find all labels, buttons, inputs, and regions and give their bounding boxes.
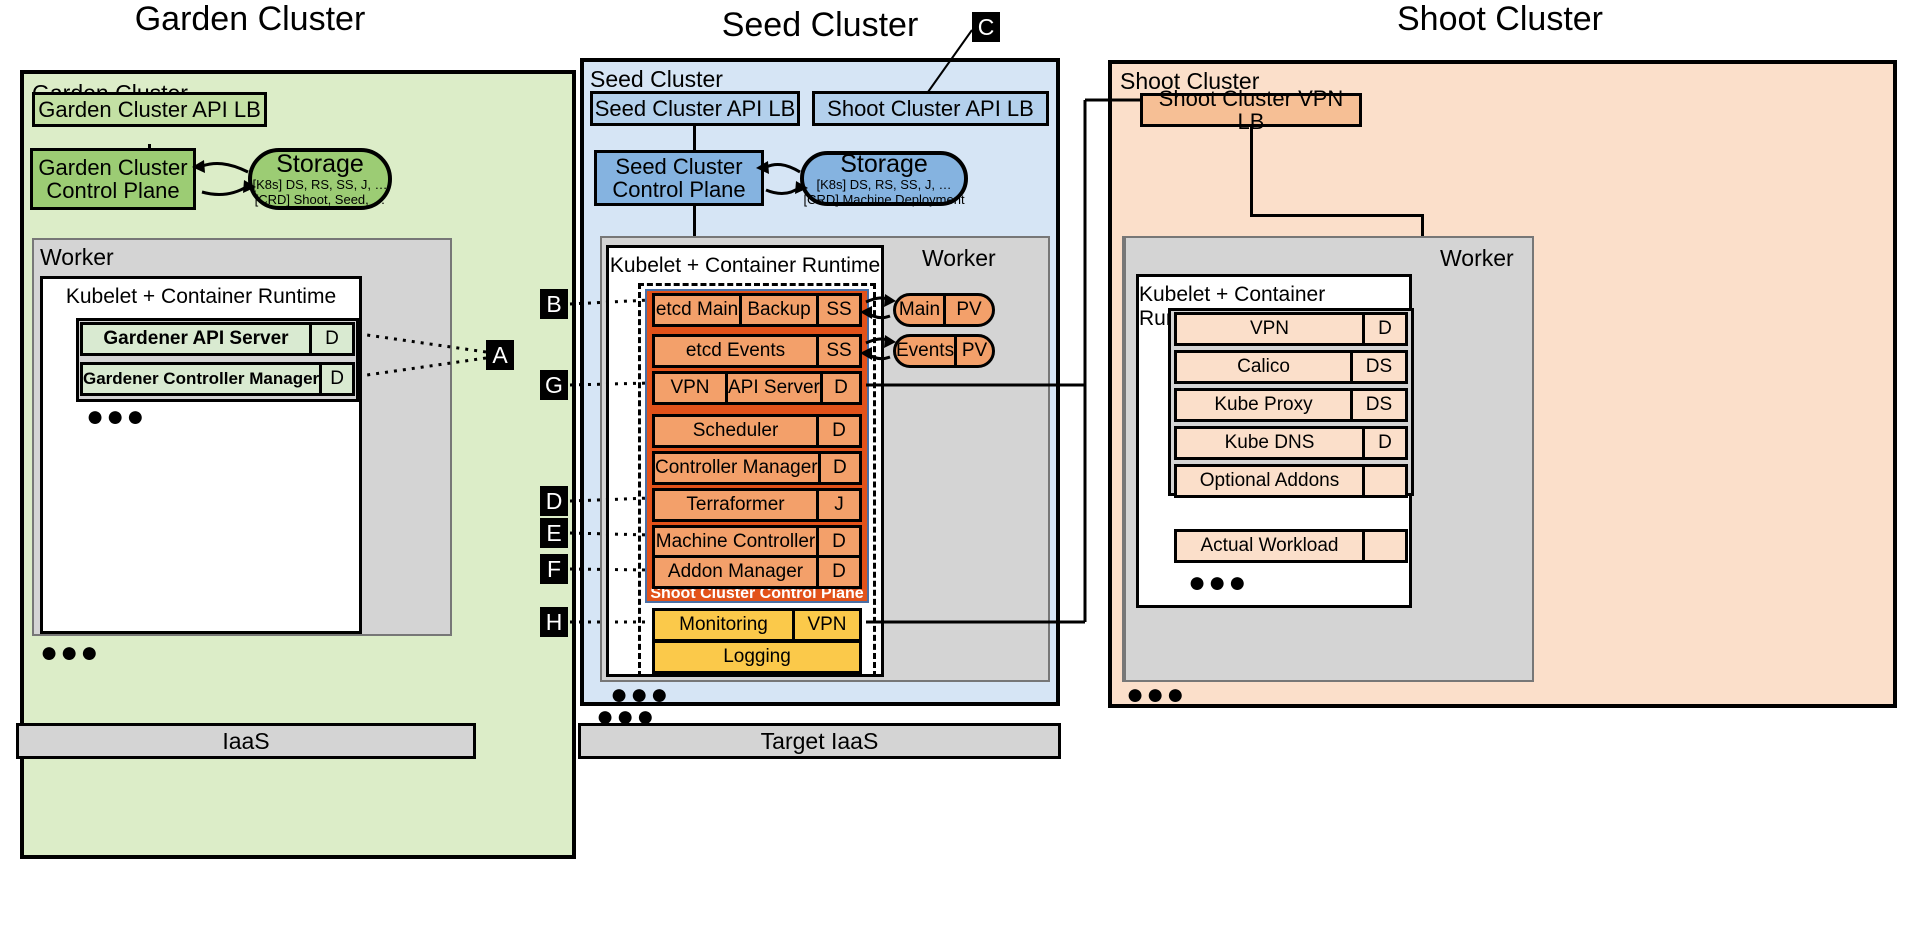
seed-pod-terraformer[interactable]: Terraformer J <box>652 488 862 522</box>
seed-worker-ellipsis: ●●● <box>610 690 670 700</box>
shoot-vpnlb-run <box>1250 214 1424 217</box>
seed-pod-machine-controller-label: Machine Controller <box>655 528 816 556</box>
seed-iaas-bar: Target IaaS <box>578 723 1061 759</box>
shoot-pod-calico[interactable]: Calico DS <box>1174 350 1408 384</box>
seed-pod-monitoring-label: Monitoring <box>655 611 792 639</box>
shoot-pod-calico-kind: DS <box>1350 353 1405 381</box>
garden-control-plane-label-2: Control Plane <box>46 179 179 202</box>
seed-pod-api-server-vpn: VPN <box>655 374 728 402</box>
seed-storage[interactable]: Storage [K8s] DS, RS, SS, J, … [CRD] Mac… <box>800 151 968 206</box>
garden-iaas-label: IaaS <box>222 728 269 755</box>
shoot-worker-label: Worker <box>1440 245 1514 272</box>
seed-pod-scheduler[interactable]: Scheduler D <box>652 414 862 448</box>
garden-api-lb[interactable]: Garden Cluster API LB <box>32 92 267 127</box>
seed-pod-etcd-events-kind: SS <box>816 337 859 365</box>
seed-volume-events-label: Events <box>896 337 954 365</box>
garden-pod-gardener-api-server-kind: D <box>309 325 352 353</box>
seed-control-plane-label-1: Seed Cluster <box>615 155 742 178</box>
seed-pod-api-server-kind: D <box>820 374 859 402</box>
garden-storage[interactable]: Storage [K8s] DS, RS, SS, J, … [CRD] Sho… <box>248 148 392 210</box>
shoot-pod-actual-workload-label: Actual Workload <box>1177 532 1362 560</box>
garden-pod-gardener-api-server-label: Gardener API Server <box>83 325 309 353</box>
seed-pod-api-server-label: API Server <box>728 374 820 402</box>
shoot-api-lb-label: Shoot Cluster API LB <box>827 97 1034 120</box>
seed-kubelet-label: Kubelet + Container Runtime <box>610 254 880 278</box>
garden-cluster-title: Garden Cluster <box>60 0 440 39</box>
garden-iaas-bar: IaaS <box>16 723 476 759</box>
shoot-pod-kube-dns-label: Kube DNS <box>1177 429 1362 457</box>
shoot-workload-ellipsis: ●●● <box>1188 578 1248 588</box>
seed-cluster-title: Seed Cluster <box>630 6 1010 45</box>
seed-cluster-ellipsis: ●●● <box>596 712 656 722</box>
shoot-pod-kube-dns-kind: D <box>1362 429 1405 457</box>
garden-pod-gardener-controller-manager-kind: D <box>319 365 352 393</box>
seed-pod-scheduler-kind: D <box>816 417 859 445</box>
seed-lb-to-cp-line <box>693 126 696 153</box>
garden-worker-label: Worker <box>40 244 114 271</box>
garden-api-lb-label: Garden Cluster API LB <box>38 98 261 121</box>
shoot-api-lb[interactable]: Shoot Cluster API LB <box>812 91 1049 126</box>
shoot-pod-kube-proxy-label: Kube Proxy <box>1177 391 1350 419</box>
shoot-pod-kube-dns[interactable]: Kube DNS D <box>1174 426 1408 460</box>
shoot-pod-vpn-kind: D <box>1362 315 1405 343</box>
seed-storage-line-1: [K8s] DS, RS, SS, J, … <box>816 177 951 192</box>
shoot-pod-actual-workload[interactable]: Actual Workload <box>1174 529 1408 563</box>
garden-worker-ellipsis: ●●● <box>40 648 100 658</box>
seed-pod-etcd-main[interactable]: etcd Main Backup SS <box>652 293 862 327</box>
shoot-pod-kube-proxy-kind: DS <box>1350 391 1405 419</box>
seed-pod-etcd-events-label: etcd Events <box>655 337 816 365</box>
seed-control-plane-label-2: Control Plane <box>612 178 745 201</box>
seed-pod-terraformer-kind: J <box>816 491 859 519</box>
seed-cluster-panel-label: Seed Cluster <box>590 68 723 91</box>
shoot-pod-actual-workload-kind <box>1362 532 1405 560</box>
seed-pod-controller-manager-label: Controller Manager <box>655 454 818 482</box>
shoot-pod-vpn-label: VPN <box>1177 315 1362 343</box>
seed-api-lb[interactable]: Seed Cluster API LB <box>590 91 800 126</box>
garden-kubelet-label: Kubelet + Container Runtime <box>66 285 336 309</box>
marker-f: F <box>540 554 568 584</box>
seed-pod-machine-controller[interactable]: Machine Controller D <box>652 525 862 559</box>
shoot-vpnlb-drop <box>1250 127 1253 217</box>
seed-api-lb-label: Seed Cluster API LB <box>595 97 796 120</box>
seed-pod-addon-manager[interactable]: Addon Manager D <box>652 555 862 589</box>
seed-storage-title: Storage <box>840 151 928 177</box>
seed-pod-logging[interactable]: Logging <box>652 640 862 674</box>
shoot-pod-kube-proxy[interactable]: Kube Proxy DS <box>1174 388 1408 422</box>
garden-control-plane[interactable]: Garden Cluster Control Plane <box>30 148 196 210</box>
seed-volume-events[interactable]: Events PV <box>893 334 995 368</box>
marker-g: G <box>540 370 568 400</box>
shoot-cluster-title: Shoot Cluster <box>1310 0 1690 39</box>
marker-e: E <box>540 518 568 548</box>
shoot-pod-calico-label: Calico <box>1177 353 1350 381</box>
seed-pod-etcd-main-kind: SS <box>816 296 859 324</box>
seed-pod-scheduler-label: Scheduler <box>655 417 816 445</box>
garden-pod-ellipsis: ●●● <box>86 412 146 422</box>
seed-pod-etcd-main-backup: Backup <box>739 296 816 324</box>
marker-b: B <box>540 289 568 319</box>
shoot-cluster-ellipsis: ●●● <box>1126 690 1186 700</box>
seed-pod-etcd-main-label: etcd Main <box>655 296 739 324</box>
seed-pod-etcd-events[interactable]: etcd Events SS <box>652 334 862 368</box>
marker-h: H <box>540 607 568 637</box>
seed-pod-addon-manager-label: Addon Manager <box>655 558 816 586</box>
marker-d: D <box>540 486 568 516</box>
garden-control-plane-label-1: Garden Cluster <box>38 156 187 179</box>
garden-pod-gardener-api-server[interactable]: Gardener API Server D <box>80 322 355 356</box>
seed-storage-line-2: [CRD] Machine Deployment <box>803 192 964 207</box>
seed-pod-controller-manager-kind: D <box>818 454 859 482</box>
shoot-vpn-lb[interactable]: Shoot Cluster VPN LB <box>1140 93 1362 127</box>
seed-volume-main[interactable]: Main PV <box>893 293 995 327</box>
seed-pod-monitoring[interactable]: Monitoring VPN <box>652 608 862 642</box>
shoot-pod-optional-addons-kind <box>1362 467 1405 495</box>
marker-c: C <box>972 12 1000 42</box>
marker-a: A <box>486 340 514 370</box>
garden-storage-line-2: [CRD] Shoot, Seed, … <box>255 192 386 207</box>
seed-volume-main-kind: PV <box>943 296 992 324</box>
seed-pod-api-server[interactable]: VPN API Server D <box>652 371 862 405</box>
seed-iaas-label: Target IaaS <box>761 728 879 755</box>
seed-pod-controller-manager[interactable]: Controller Manager D <box>652 451 862 485</box>
seed-volume-main-label: Main <box>896 296 943 324</box>
seed-control-plane[interactable]: Seed Cluster Control Plane <box>594 150 764 206</box>
shoot-pod-optional-addons[interactable]: Optional Addons <box>1174 464 1408 498</box>
garden-storage-title: Storage <box>276 151 364 177</box>
garden-storage-line-1: [K8s] DS, RS, SS, J, … <box>252 177 387 192</box>
seed-pod-machine-controller-kind: D <box>816 528 859 556</box>
shoot-pod-optional-addons-label: Optional Addons <box>1177 467 1362 495</box>
seed-pod-addon-manager-kind: D <box>816 558 859 586</box>
seed-pod-logging-label: Logging <box>655 643 859 671</box>
seed-pod-terraformer-label: Terraformer <box>655 491 816 519</box>
garden-pod-gardener-controller-manager[interactable]: Gardener Controller Manager D <box>80 362 355 396</box>
seed-pod-monitoring-vpn: VPN <box>792 611 859 639</box>
shoot-pod-vpn[interactable]: VPN D <box>1174 312 1408 346</box>
seed-volume-events-kind: PV <box>954 337 992 365</box>
seed-worker-label: Worker <box>922 245 996 272</box>
garden-pod-gardener-controller-manager-label: Gardener Controller Manager <box>83 365 319 393</box>
